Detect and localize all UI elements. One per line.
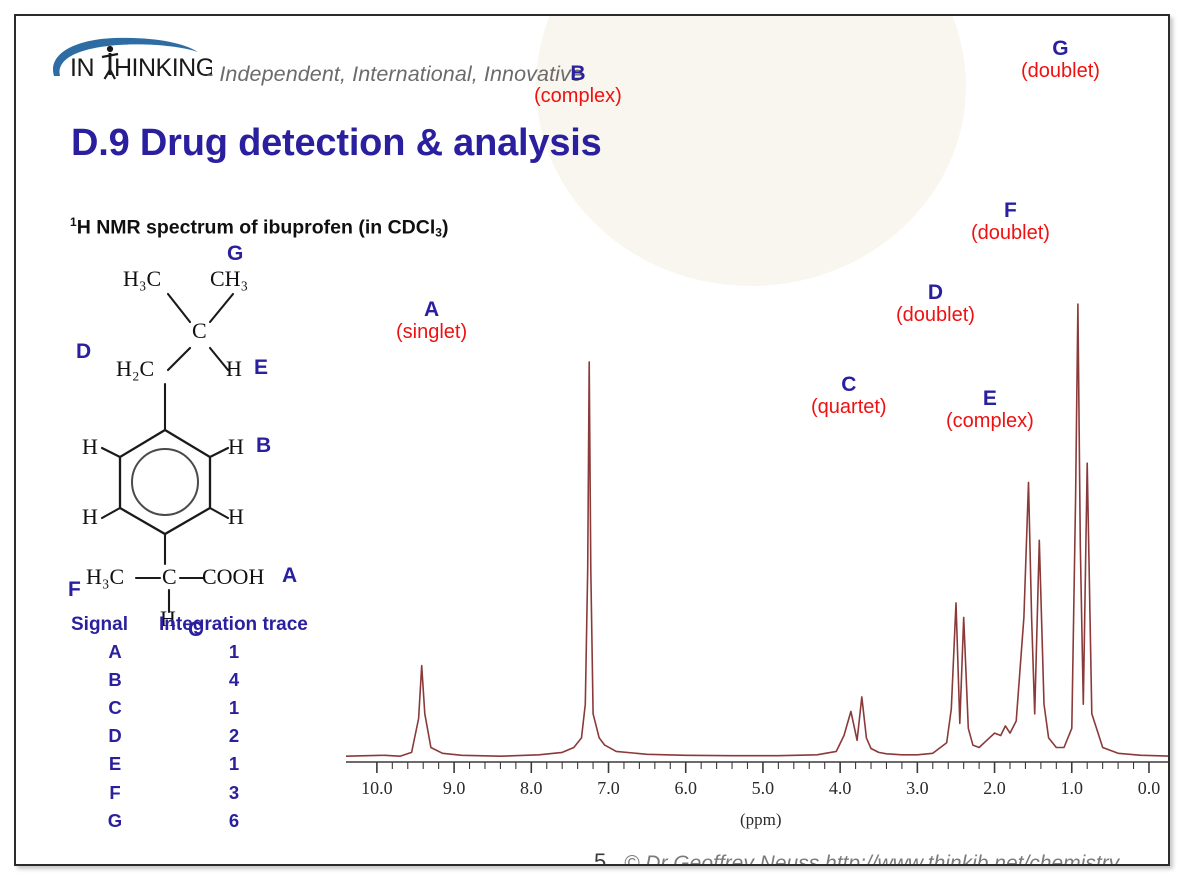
cell-integration: 1	[159, 694, 309, 722]
axis-tick-label: 9.0	[429, 778, 479, 799]
cell-signal: F	[71, 779, 159, 807]
cell-integration: 2	[159, 722, 309, 750]
atom-h-ring-tl: H	[82, 434, 98, 460]
slide: IN HINKING - Independent, International,…	[0, 0, 1192, 895]
slide-frame: IN HINKING - Independent, International,…	[14, 14, 1170, 866]
atom-c-isobutyl: C	[192, 318, 207, 344]
subtitle-tail: )	[442, 217, 449, 239]
axis-unit-label: (ppm)	[740, 810, 782, 830]
cell-integration: 1	[159, 638, 309, 666]
svg-text:IN: IN	[70, 54, 94, 82]
cell-signal: B	[71, 666, 159, 694]
atom-cooh: COOH	[202, 564, 264, 590]
axis-tick-label: 7.0	[584, 778, 634, 799]
peak-label-g: G(doublet)	[1021, 38, 1100, 82]
atom-h2c: H₂C	[116, 356, 154, 382]
peak-signal-letter: G	[1021, 38, 1100, 60]
axis-tick-label: 10.0	[352, 778, 402, 799]
page-number: 5	[594, 849, 606, 866]
structure-bonds	[68, 252, 368, 652]
cell-signal: E	[71, 750, 159, 778]
subtitle-subscript: 3	[435, 226, 442, 240]
subtitle-main: H NMR spectrum of ibuprofen (in CDCl	[77, 217, 436, 239]
axis-tick-label: 5.0	[738, 778, 788, 799]
structure-label-g: G	[227, 242, 243, 266]
atom-ch3-top-right: CH₃	[210, 266, 248, 292]
page-title: D.9 Drug detection & analysis	[71, 122, 602, 165]
table-row: B 4	[71, 666, 351, 694]
axis-tick-label: 0.0	[1124, 778, 1170, 799]
atom-c-alpha: C	[162, 564, 177, 590]
peak-multiplicity: (doublet)	[971, 222, 1050, 244]
cell-integration: 6	[159, 807, 309, 835]
axis-tick-label: 4.0	[815, 778, 865, 799]
cell-signal: C	[71, 694, 159, 722]
cell-signal: A	[71, 638, 159, 666]
subtitle: 1H NMR spectrum of ibuprofen (in CDCl3)	[70, 215, 448, 240]
table-row: D 2	[71, 722, 351, 750]
atom-h-isobutyl: H	[226, 356, 242, 382]
table-row: C 1	[71, 694, 351, 722]
table-header-row: Signal Integration trace	[71, 614, 351, 636]
cell-signal: G	[71, 807, 159, 835]
axis-tick-label: 2.0	[970, 778, 1020, 799]
structure-label-a: A	[282, 564, 297, 588]
table-row: G 6	[71, 807, 351, 835]
peak-multiplicity: (doublet)	[1021, 60, 1100, 82]
atom-h-ring-br: H	[228, 504, 244, 530]
cell-signal: D	[71, 722, 159, 750]
copyright-credit[interactable]: © Dr Geoffrey Neuss http://www.thinkib.n…	[624, 852, 1119, 866]
atom-h-ring-bl: H	[82, 504, 98, 530]
spectrum-trace	[346, 304, 1170, 756]
structure-label-d: D	[76, 340, 91, 364]
column-header-signal: Signal	[71, 614, 159, 636]
nmr-spectrum-chart: 10.09.08.07.06.05.04.03.02.01.00.0 (ppm)…	[346, 262, 1170, 842]
ibuprofen-structure: H₃C CH₃ C H₂C H H H H H H₃C C COOH H G D…	[68, 252, 368, 592]
svg-text:HINKING: HINKING	[114, 54, 212, 82]
inthinking-logo-icon: IN HINKING	[42, 32, 212, 90]
atom-h3c-top-left: H₃C	[123, 266, 161, 292]
peak-signal-letter: F	[971, 200, 1050, 222]
axis-tick-label: 8.0	[506, 778, 556, 799]
column-header-integration: Integration trace	[159, 614, 349, 636]
axis-tick-label: 3.0	[892, 778, 942, 799]
structure-label-b: B	[256, 434, 271, 458]
brand-tagline: - Independent, International, Innovative	[206, 62, 583, 87]
table-row: E 1	[71, 750, 351, 778]
integration-table: Signal Integration trace A 1 B 4 C 1 D 2…	[71, 614, 351, 835]
table-row: A 1	[71, 638, 351, 666]
cell-integration: 4	[159, 666, 309, 694]
subtitle-superscript: 1	[70, 215, 77, 229]
axis-tick-label: 1.0	[1047, 778, 1097, 799]
table-row: F 3	[71, 779, 351, 807]
spectrum-x-axis	[346, 762, 1170, 773]
peak-label-f: F(doublet)	[971, 200, 1050, 244]
cell-integration: 1	[159, 750, 309, 778]
axis-tick-label: 6.0	[661, 778, 711, 799]
structure-label-e: E	[254, 356, 268, 380]
atom-h-ring-tr: H	[228, 434, 244, 460]
brand-logo[interactable]: IN HINKING - Independent, International,…	[42, 32, 602, 92]
spectrum-plot	[346, 262, 1170, 822]
structure-label-f: F	[68, 578, 81, 602]
atom-h3c-alpha: H₃C	[86, 564, 124, 590]
cell-integration: 3	[159, 779, 309, 807]
